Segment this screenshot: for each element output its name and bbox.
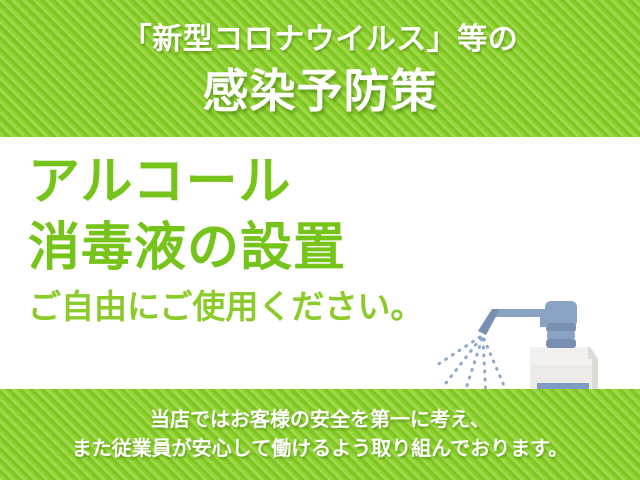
pump-head-group [545, 301, 577, 348]
spray-dots-group [434, 337, 508, 397]
footer-content: 当店ではお客様の安全を第一に考え、 また従業員が安心して働けるよう取り組んでおり… [0, 389, 640, 480]
footer-line2: また従業員が安心して働けるよう取り組んでおります。 [0, 435, 640, 464]
header-content: 「新型コロナウイルス」等の 感染予防策 [0, 0, 640, 137]
headline-line1: アルコール [28, 149, 438, 215]
footer-message: 当店ではお客様の安全を第一に考え、 また従業員が安心して働けるよう取り組んでおり… [0, 406, 640, 464]
header-title-line1: 「新型コロナウイルス」等の [0, 20, 640, 60]
footer-line1: 当店ではお客様の安全を第一に考え、 [0, 406, 640, 435]
headline-block: アルコール 消毒液の設置 ご自由にご使用ください。 [28, 149, 438, 329]
pump-collar-1 [546, 323, 576, 332]
headline-subtext: ご自由にご使用ください。 [28, 285, 438, 329]
pump-collar-3 [546, 339, 576, 348]
header-title-line2: 感染予防策 [0, 62, 640, 120]
spout-arm [492, 309, 548, 327]
spray-line-2 [446, 338, 481, 383]
footer-striped-band: 当店ではお客様の安全を第一に考え、 また従業員が安心して働けるよう取り組んでおり… [0, 389, 640, 480]
spout-nozzle [478, 309, 500, 335]
header-striped-band: 「新型コロナウイルス」等の 感染予防策 [0, 0, 640, 137]
headline-line2: 消毒液の設置 [28, 215, 438, 281]
covid-prevention-poster: 「新型コロナウイルス」等の 感染予防策 アルコール 消毒液の設置 ご自由にご使用… [0, 0, 640, 480]
spray-line-5 [484, 339, 508, 395]
main-white-panel: アルコール 消毒液の設置 ご自由にご使用ください。 [0, 137, 640, 389]
pump-spout-group [478, 309, 548, 335]
pump-collar-2 [547, 331, 575, 340]
bottle-shoulder [530, 347, 592, 365]
